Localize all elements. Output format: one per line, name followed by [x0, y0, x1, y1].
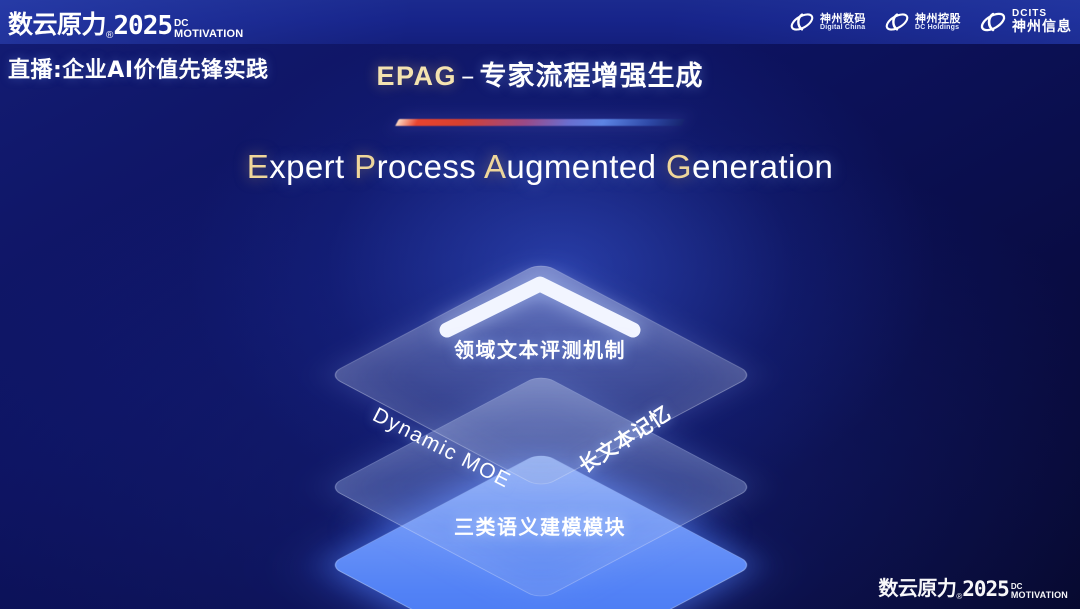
partner-logo-dc-holdings: 神州控股 DC Holdings — [884, 9, 961, 35]
partner-name-cn: 神州控股 — [915, 13, 961, 25]
watermark-logo: 数云原力 ® 2025 DC MOTIVATION — [878, 572, 1068, 601]
subtitle-rest: ugmented — [506, 148, 656, 185]
partner-name-en: Digital China — [820, 24, 866, 31]
event-logo-year: 2025 — [113, 11, 172, 41]
page-subtitle: Expert Process Augmented Generation — [0, 148, 1080, 186]
partner-logo-dcits: DCITS 神州信息 — [979, 8, 1072, 36]
partner-label: DCITS 神州信息 — [1012, 9, 1072, 34]
partner-label: 神州控股 DC Holdings — [915, 13, 961, 32]
partner-label: 神州数码 Digital China — [820, 13, 866, 32]
subtitle-initial: E — [247, 148, 269, 185]
subtitle-word-augmented: Augmented — [484, 148, 656, 185]
swirl-icon — [979, 8, 1007, 36]
watermark-logo-motivation: MOTIVATION — [1011, 591, 1068, 600]
subtitle-rest: rocess — [377, 148, 477, 185]
partner-name-en: DC Holdings — [915, 24, 961, 31]
event-logo-dcm: DC MOTIVATION — [174, 19, 243, 40]
page-title-chinese: 专家流程增强生成 — [480, 61, 704, 92]
partner-logo-digital-china: 神州数码 Digital China — [789, 9, 866, 35]
subtitle-initial: A — [484, 148, 506, 185]
gradient-divider — [395, 119, 685, 126]
event-logo-motivation: MOTIVATION — [174, 29, 243, 40]
page-title-acronym: EPAG — [376, 61, 457, 91]
subtitle-rest: xpert — [269, 148, 344, 185]
slide-canvas: 数云原力 ® 2025 DC MOTIVATION 神州数码 Digital C… — [0, 0, 1080, 609]
subtitle-word-process: Process — [354, 148, 476, 185]
partner-logo-group: 神州数码 Digital China 神州控股 DC Holdings DCIT… — [789, 4, 1072, 40]
subtitle-rest: eneration — [692, 148, 833, 185]
live-broadcast-title: 直播:企业AI价值先锋实践 — [8, 52, 269, 84]
subtitle-word-generation: Generation — [666, 148, 833, 185]
page-title-dash: – — [457, 61, 480, 92]
subtitle-initial: P — [354, 148, 376, 185]
watermark-logo-dcm: DC MOTIVATION — [1011, 583, 1068, 600]
subtitle-initial: G — [666, 148, 692, 185]
chevron-up-icon — [435, 272, 645, 342]
partner-name-cn: 神州数码 — [820, 13, 866, 25]
watermark-logo-year: 2025 — [962, 577, 1009, 601]
diagram-label-top: 领域文本评测机制 — [454, 334, 626, 363]
subtitle-word-expert: Expert — [247, 148, 345, 185]
partner-name-cn: 神州信息 — [1012, 20, 1072, 35]
event-logo-cn: 数云原力 — [8, 5, 106, 41]
swirl-icon — [884, 9, 910, 35]
watermark-logo-cn: 数云原力 — [878, 572, 956, 601]
swirl-icon — [789, 9, 815, 35]
event-logo: 数云原力 ® 2025 DC MOTIVATION — [8, 5, 243, 41]
event-logo-registered: ® — [106, 30, 113, 41]
diagram-label-bottom: 三类语义建模模块 — [454, 511, 626, 540]
